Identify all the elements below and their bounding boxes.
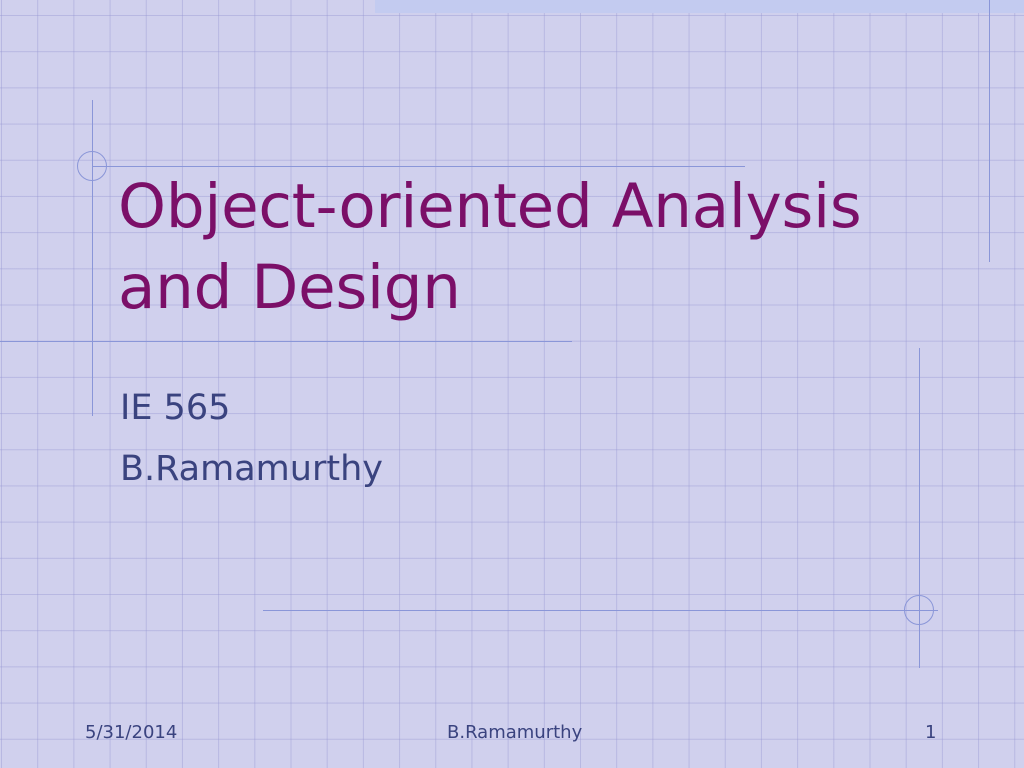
footer-page-number: 1: [925, 722, 936, 743]
subtitle-block: IE 565 B.Ramamurthy: [120, 378, 880, 499]
decorative-rule-left-vertical: [92, 100, 94, 416]
decorative-circle-top-left: [77, 151, 107, 181]
footer-author: B.Ramamurthy: [447, 722, 582, 743]
subtitle-line-author: B.Ramamurthy: [120, 439, 880, 500]
decorative-rule-top-right-vertical: [989, 0, 991, 262]
decorative-rule-bottom-horizontal: [263, 610, 938, 612]
top-accent-band: [375, 0, 1024, 13]
decorative-circle-bottom-right: [904, 595, 934, 625]
slide-canvas: Object-oriented Analysis and Design IE 5…: [0, 0, 1024, 768]
title-block: Object-oriented Analysis and Design: [118, 166, 938, 328]
decorative-rule-middle-horizontal: [0, 341, 572, 343]
slide-footer: 5/31/2014 B.Ramamurthy 1: [0, 722, 1024, 752]
subtitle-line-course: IE 565: [120, 378, 880, 439]
footer-date: 5/31/2014: [85, 722, 177, 743]
slide-title: Object-oriented Analysis and Design: [118, 166, 938, 328]
